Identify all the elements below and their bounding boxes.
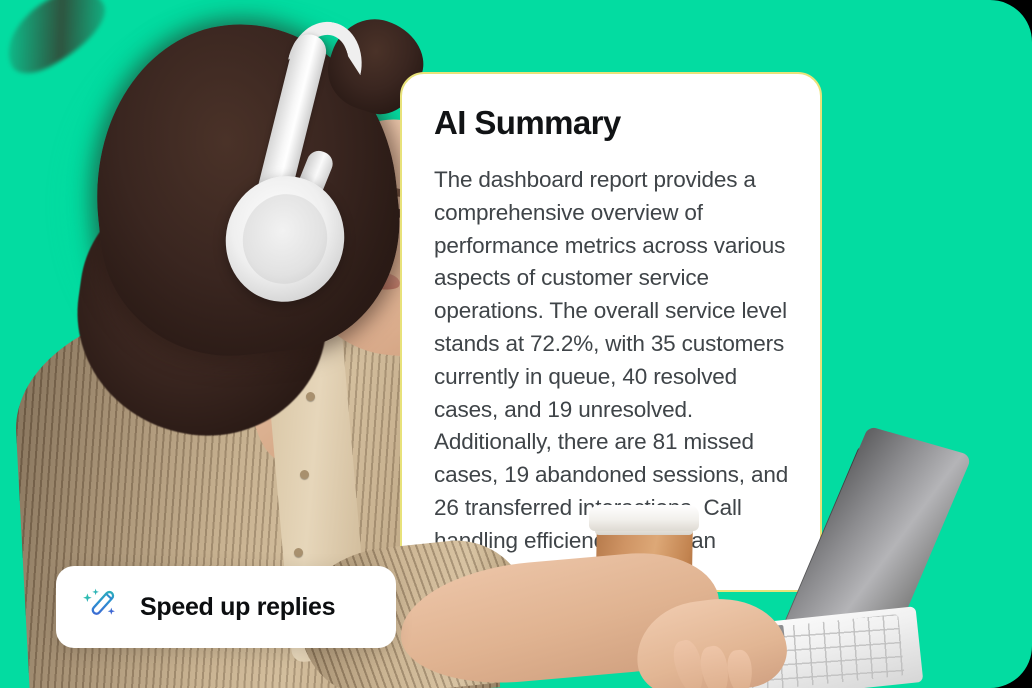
page-title: AI Summary — [434, 104, 790, 142]
speed-up-replies-pill[interactable]: Speed up replies — [56, 566, 396, 648]
hair-wisp — [0, 0, 118, 82]
promo-banner: AI Summary The dashboard report provides… — [0, 0, 1032, 688]
magic-wand-icon — [82, 587, 118, 628]
coffee-cup-lid — [589, 505, 699, 531]
cardigan-button — [300, 470, 309, 479]
cardigan-button — [294, 548, 303, 557]
speed-up-replies-label: Speed up replies — [140, 593, 335, 622]
